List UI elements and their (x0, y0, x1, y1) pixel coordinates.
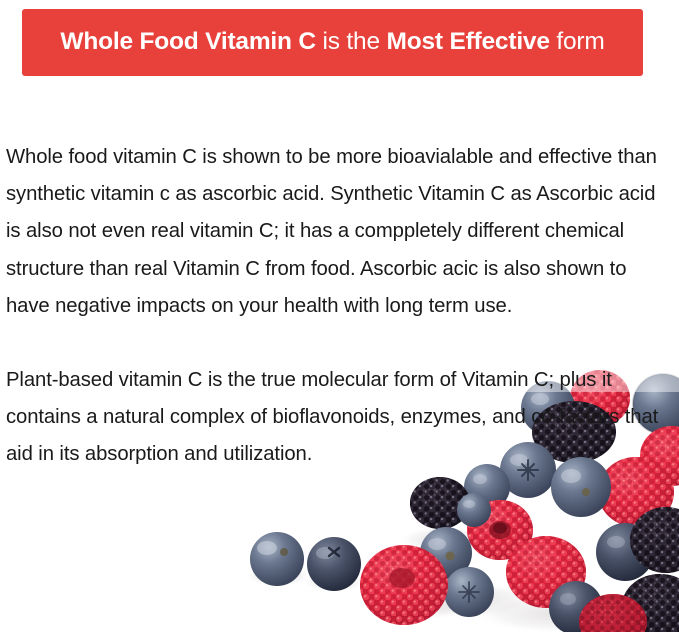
headline-bold-2: Most Effective (386, 28, 549, 55)
body-copy: Whole food vitamin C is shown to be more… (6, 139, 666, 474)
paragraph-2: Plant-based vitamin C is the true molecu… (6, 362, 666, 474)
headline-bold-1: Whole Food Vitamin C (60, 28, 316, 55)
headline-text: Whole Food Vitamin C is the Most Effecti… (60, 28, 604, 56)
headline-banner: Whole Food Vitamin C is the Most Effecti… (22, 9, 643, 76)
headline-plain-1: is the (316, 28, 387, 55)
promo-graphic: Whole Food Vitamin C is the Most Effecti… (0, 0, 679, 632)
paragraph-1: Whole food vitamin C is shown to be more… (6, 139, 666, 325)
headline-plain-2: form (550, 28, 605, 55)
